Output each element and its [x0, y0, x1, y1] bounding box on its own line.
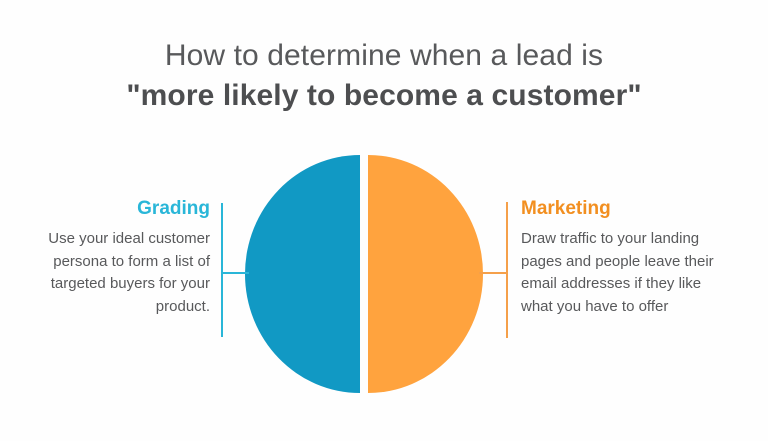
marketing-callout: Marketing Draw traffic to your landing p… [521, 197, 726, 318]
marketing-connector-horizontal [479, 272, 507, 274]
grading-connector-horizontal [221, 272, 249, 274]
grading-connector-vertical [221, 203, 223, 337]
circle-half-marketing [368, 155, 483, 393]
split-circle-chart [245, 155, 483, 393]
page-title: How to determine when a lead is "more li… [0, 36, 768, 116]
infographic-canvas: How to determine when a lead is "more li… [0, 0, 768, 441]
marketing-connector-vertical [506, 202, 508, 338]
title-line-2: "more likely to become a customer" [0, 76, 768, 116]
title-line-1: How to determine when a lead is [0, 36, 768, 76]
grading-description: Use your ideal customer persona to form … [5, 228, 210, 318]
grading-heading: Grading [5, 197, 210, 221]
circle-half-grading [245, 155, 360, 393]
marketing-heading: Marketing [521, 197, 726, 221]
marketing-description: Draw traffic to your landing pages and p… [521, 228, 726, 318]
grading-callout: Grading Use your ideal customer persona … [5, 197, 210, 318]
